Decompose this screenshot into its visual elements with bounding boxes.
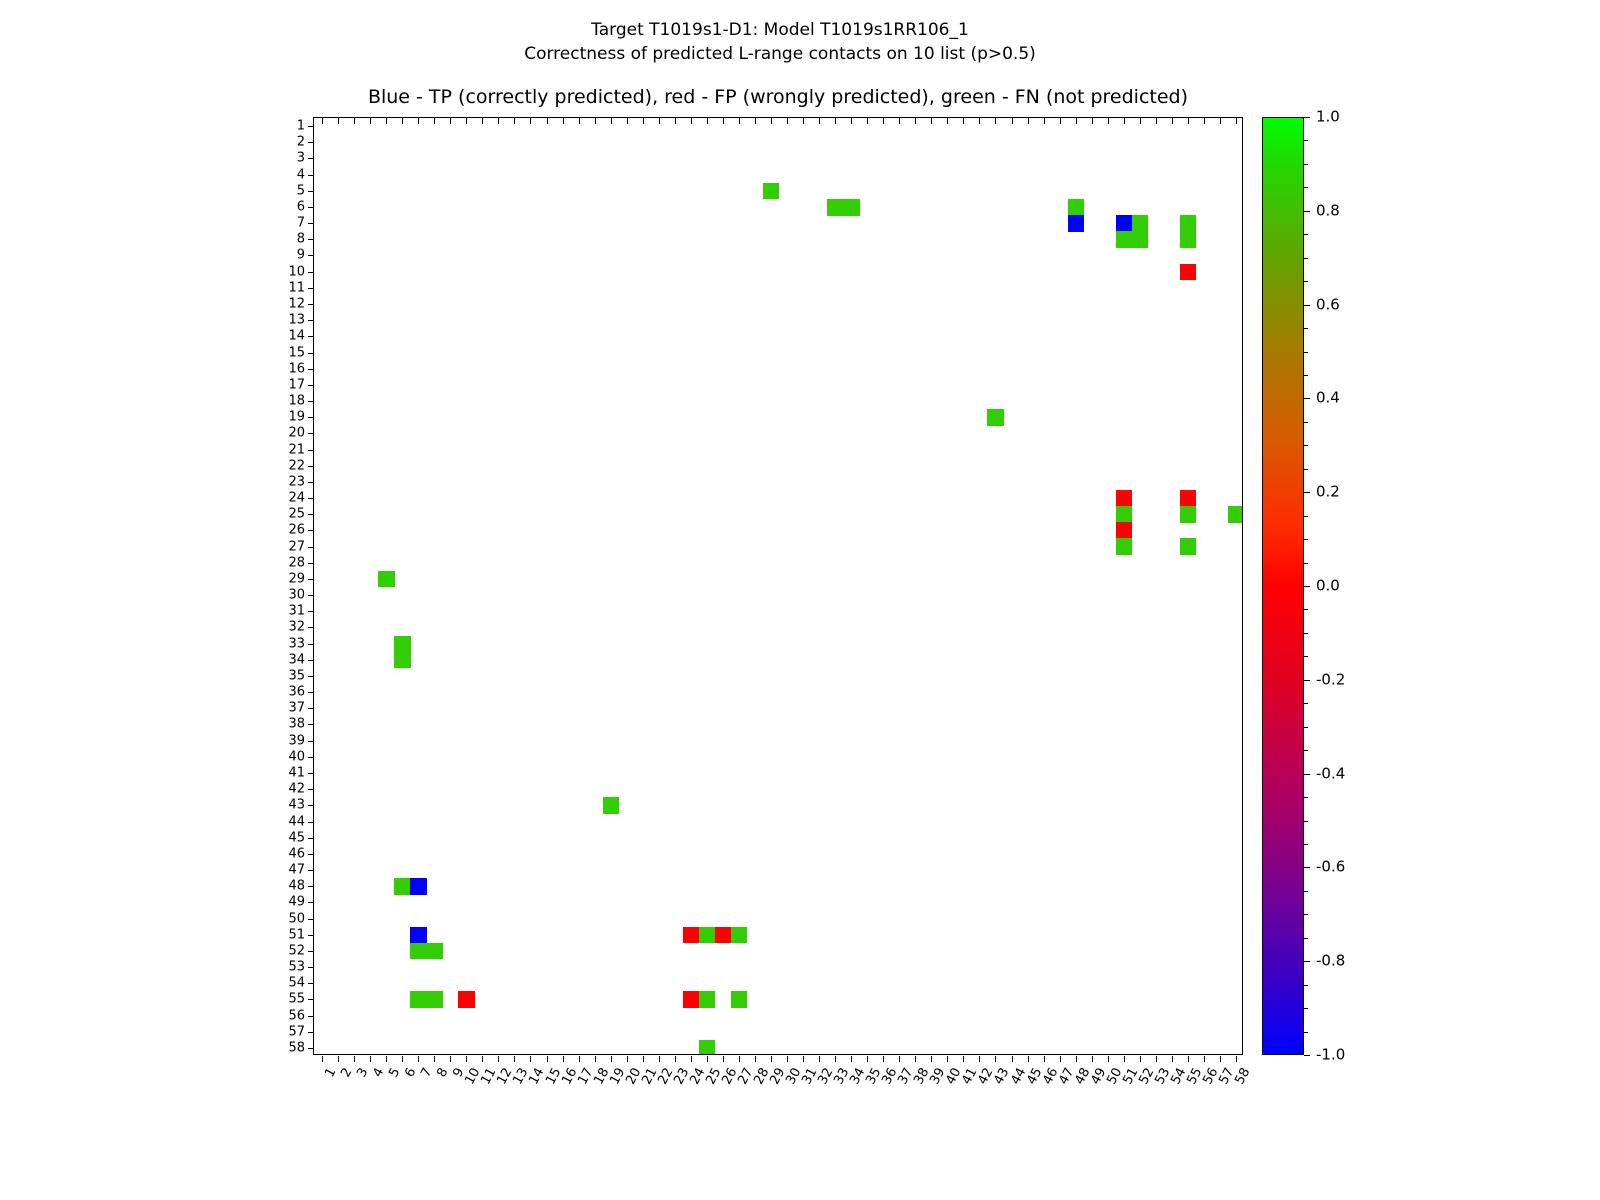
- x-tick-label: 58: [1233, 1066, 1252, 1087]
- y-tick-mark: [308, 1048, 314, 1049]
- y-tick-mark: [308, 207, 314, 208]
- y-tick-label: 53: [288, 961, 305, 974]
- x-tick-mark: [803, 1056, 804, 1062]
- x-tick-mark-top: [851, 118, 852, 124]
- colorbar-tick-mark: [1304, 1055, 1310, 1056]
- y-tick-label: 32: [288, 621, 305, 634]
- y-tick-label: 29: [288, 572, 305, 585]
- y-tick-label: 36: [288, 686, 305, 699]
- contact-cell: [394, 636, 411, 653]
- colorbar-minor-tick: [1304, 375, 1308, 376]
- y-tick-mark: [308, 692, 314, 693]
- x-tick-mark: [434, 1056, 435, 1062]
- x-tick-mark-top: [1172, 118, 1173, 124]
- y-tick-mark: [308, 870, 314, 871]
- colorbar-minor-tick: [1304, 539, 1308, 540]
- colorbar: 1.00.80.60.40.20.0-0.2-0.4-0.6-0.8-1.0: [1262, 117, 1304, 1055]
- y-tick-mark: [308, 886, 314, 887]
- colorbar-tick-mark: [1304, 867, 1310, 868]
- x-tick-mark-top: [1188, 118, 1189, 124]
- contact-cell: [458, 991, 475, 1008]
- x-tick-mark-top: [611, 118, 612, 124]
- x-tick-mark-top: [707, 118, 708, 124]
- colorbar-tick-mark: [1304, 492, 1310, 493]
- y-tick-label: 2: [297, 136, 305, 149]
- x-tick-mark: [659, 1056, 660, 1062]
- y-tick-label: 33: [288, 637, 305, 650]
- figure-title-line-1: Target T1019s1-D1: Model T1019s1RR106_1: [0, 18, 1560, 42]
- y-tick-mark: [308, 644, 314, 645]
- y-tick-label: 48: [288, 880, 305, 893]
- colorbar-minor-tick: [1304, 633, 1308, 634]
- x-tick-mark: [947, 1056, 948, 1062]
- x-tick-mark-top: [1140, 118, 1141, 124]
- y-tick-label: 12: [288, 297, 305, 310]
- x-tick-mark-top: [771, 118, 772, 124]
- colorbar-minor-tick: [1304, 609, 1308, 610]
- contact-cell: [699, 927, 716, 944]
- x-tick-mark: [915, 1056, 916, 1062]
- contact-cell: [1180, 215, 1197, 232]
- y-tick-mark: [308, 595, 314, 596]
- colorbar-minor-tick: [1304, 563, 1308, 564]
- y-tick-mark: [308, 1016, 314, 1017]
- contact-cell: [426, 943, 443, 960]
- colorbar-minor-tick: [1304, 328, 1308, 329]
- colorbar-minor-tick: [1304, 469, 1308, 470]
- x-tick-mark-top: [899, 118, 900, 124]
- y-tick-label: 49: [288, 896, 305, 909]
- colorbar-minor-tick: [1304, 891, 1308, 892]
- contact-cell: [1116, 231, 1133, 248]
- x-tick-mark: [723, 1056, 724, 1062]
- x-tick-mark-top: [563, 118, 564, 124]
- x-tick-mark: [787, 1056, 788, 1062]
- y-tick-label: 23: [288, 475, 305, 488]
- colorbar-tick-mark: [1304, 586, 1310, 587]
- colorbar-tick-label: -1.0: [1316, 1048, 1345, 1063]
- x-tick-mark: [691, 1056, 692, 1062]
- x-tick-mark: [995, 1056, 996, 1062]
- y-tick-label: 37: [288, 702, 305, 715]
- x-tick-mark-top: [819, 118, 820, 124]
- x-tick-mark-top: [787, 118, 788, 124]
- y-tick-mark: [308, 919, 314, 920]
- contact-cell: [699, 991, 716, 1008]
- y-tick-label: 41: [288, 766, 305, 779]
- colorbar-minor-tick: [1304, 821, 1308, 822]
- colorbar-minor-tick: [1304, 656, 1308, 657]
- colorbar-minor-tick: [1304, 352, 1308, 353]
- x-tick-mark: [819, 1056, 820, 1062]
- y-tick-label: 8: [297, 233, 305, 246]
- x-tick-mark: [547, 1056, 548, 1062]
- y-tick-mark: [308, 433, 314, 434]
- x-tick-mark-top: [402, 118, 403, 124]
- y-tick-label: 3: [297, 152, 305, 165]
- x-tick-mark-top: [482, 118, 483, 124]
- x-tick-mark: [482, 1056, 483, 1062]
- y-tick-label: 11: [288, 281, 305, 294]
- x-tick-mark-top: [915, 118, 916, 124]
- colorbar-minor-tick: [1304, 1008, 1308, 1009]
- contact-cell: [1116, 215, 1133, 232]
- colorbar-minor-tick: [1304, 445, 1308, 446]
- x-tick-mark-top: [803, 118, 804, 124]
- x-tick-mark-top: [931, 118, 932, 124]
- y-tick-mark: [308, 336, 314, 337]
- y-tick-mark: [308, 660, 314, 661]
- x-tick-mark-top: [1156, 118, 1157, 124]
- colorbar-minor-tick: [1304, 938, 1308, 939]
- x-tick-mark-top: [450, 118, 451, 124]
- x-tick-label: 8: [435, 1066, 450, 1079]
- contact-cell: [410, 991, 427, 1008]
- y-tick-mark: [308, 353, 314, 354]
- y-tick-mark: [308, 789, 314, 790]
- y-tick-mark: [308, 563, 314, 564]
- x-tick-mark: [931, 1056, 932, 1062]
- contact-cell: [410, 878, 427, 895]
- y-tick-mark: [308, 676, 314, 677]
- colorbar-gradient: [1262, 117, 1304, 1055]
- x-tick-mark: [418, 1056, 419, 1062]
- contact-cell: [410, 943, 427, 960]
- x-tick-mark: [370, 1056, 371, 1062]
- contact-cell: [827, 199, 844, 216]
- y-tick-label: 22: [288, 459, 305, 472]
- y-tick-mark: [308, 369, 314, 370]
- y-tick-mark: [308, 514, 314, 515]
- x-tick-label: 6: [403, 1066, 418, 1079]
- x-tick-mark-top: [691, 118, 692, 124]
- y-tick-label: 34: [288, 653, 305, 666]
- y-tick-label: 55: [288, 993, 305, 1006]
- x-tick-mark: [530, 1056, 531, 1062]
- x-tick-mark-top: [530, 118, 531, 124]
- y-tick-label: 30: [288, 589, 305, 602]
- y-tick-mark: [308, 272, 314, 273]
- contact-map-cells: [314, 118, 1242, 1054]
- x-tick-mark-top: [386, 118, 387, 124]
- x-tick-mark: [563, 1056, 564, 1062]
- x-tick-mark: [1156, 1056, 1157, 1062]
- x-tick-mark: [450, 1056, 451, 1062]
- y-tick-label: 18: [288, 395, 305, 408]
- x-tick-mark-top: [739, 118, 740, 124]
- x-tick-mark-top: [947, 118, 948, 124]
- y-tick-label: 15: [288, 346, 305, 359]
- x-tick-label: 5: [387, 1066, 402, 1079]
- x-tick-mark-top: [1124, 118, 1125, 124]
- y-tick-label: 40: [288, 750, 305, 763]
- x-tick-mark-top: [1012, 118, 1013, 124]
- contact-cell: [763, 183, 780, 200]
- x-tick-mark: [835, 1056, 836, 1062]
- y-tick-label: 16: [288, 362, 305, 375]
- x-tick-mark-top: [498, 118, 499, 124]
- colorbar-minor-tick: [1304, 727, 1308, 728]
- y-tick-label: 10: [288, 265, 305, 278]
- x-tick-mark-top: [1092, 118, 1093, 124]
- contact-cell: [1132, 231, 1149, 248]
- figure-titles: Target T1019s1-D1: Model T1019s1RR106_1 …: [0, 18, 1560, 66]
- contact-cell: [1180, 538, 1197, 555]
- y-tick-label: 44: [288, 815, 305, 828]
- y-tick-label: 35: [288, 669, 305, 682]
- contact-cell: [683, 927, 700, 944]
- y-tick-label: 6: [297, 200, 305, 213]
- y-tick-label: 27: [288, 540, 305, 553]
- colorbar-tick-label: 0.2: [1316, 485, 1340, 500]
- y-tick-mark: [308, 288, 314, 289]
- y-tick-label: 25: [288, 508, 305, 521]
- colorbar-minor-tick: [1304, 422, 1308, 423]
- y-tick-mark: [308, 708, 314, 709]
- y-tick-label: 43: [288, 799, 305, 812]
- y-tick-label: 38: [288, 718, 305, 731]
- x-tick-mark-top: [1108, 118, 1109, 124]
- x-tick-label: 4: [371, 1066, 386, 1079]
- x-tick-mark-top: [755, 118, 756, 124]
- x-tick-mark: [1124, 1056, 1125, 1062]
- y-tick-mark: [308, 547, 314, 548]
- y-tick-mark: [308, 239, 314, 240]
- y-tick-label: 56: [288, 1009, 305, 1022]
- y-tick-label: 14: [288, 330, 305, 343]
- x-tick-mark: [1012, 1056, 1013, 1062]
- x-tick-mark: [514, 1056, 515, 1062]
- y-tick-mark: [308, 724, 314, 725]
- x-tick-mark-top: [659, 118, 660, 124]
- x-tick-mark-top: [370, 118, 371, 124]
- contact-cell: [1180, 231, 1197, 248]
- y-tick-mark: [308, 530, 314, 531]
- x-tick-mark-top: [1236, 118, 1237, 124]
- x-tick-mark-top: [466, 118, 467, 124]
- colorbar-tick-mark: [1304, 961, 1310, 962]
- contact-cell: [1228, 506, 1242, 523]
- y-tick-label: 7: [297, 217, 305, 230]
- contact-cell: [378, 571, 395, 588]
- y-tick-label: 58: [288, 1041, 305, 1054]
- x-tick-mark-top: [883, 118, 884, 124]
- x-tick-label: 7: [419, 1066, 434, 1079]
- y-tick-label: 21: [288, 443, 305, 456]
- x-tick-mark: [979, 1056, 980, 1062]
- colorbar-tick-label: 0.6: [1316, 297, 1340, 312]
- y-tick-mark: [308, 498, 314, 499]
- contact-cell: [1180, 490, 1197, 507]
- y-tick-label: 54: [288, 977, 305, 990]
- x-tick-mark-top: [322, 118, 323, 124]
- x-tick-mark: [851, 1056, 852, 1062]
- y-tick-mark: [308, 983, 314, 984]
- x-tick-mark-top: [979, 118, 980, 124]
- y-tick-mark: [308, 126, 314, 127]
- x-tick-mark: [354, 1056, 355, 1062]
- x-tick-mark-top: [627, 118, 628, 124]
- contact-cell: [1180, 506, 1197, 523]
- colorbar-tick-mark: [1304, 211, 1310, 212]
- y-tick-label: 20: [288, 427, 305, 440]
- y-tick-mark: [308, 951, 314, 952]
- x-tick-mark-top: [418, 118, 419, 124]
- contact-map-plot-area: 1234567891011121314151617181920212223242…: [313, 117, 1243, 1055]
- x-tick-mark: [755, 1056, 756, 1062]
- contact-cell: [1068, 215, 1085, 232]
- colorbar-minor-tick: [1304, 187, 1308, 188]
- x-tick-mark-top: [1220, 118, 1221, 124]
- colorbar-tick-label: -0.6: [1316, 860, 1345, 875]
- x-tick-mark: [675, 1056, 676, 1062]
- x-tick-label: 1: [323, 1066, 338, 1079]
- x-tick-mark: [402, 1056, 403, 1062]
- y-tick-mark: [308, 902, 314, 903]
- y-tick-label: 45: [288, 831, 305, 844]
- x-tick-mark: [883, 1056, 884, 1062]
- y-tick-mark: [308, 320, 314, 321]
- contact-cell: [699, 1040, 716, 1054]
- y-tick-label: 47: [288, 864, 305, 877]
- contact-cell: [1116, 522, 1133, 539]
- y-tick-mark: [308, 175, 314, 176]
- colorbar-minor-tick: [1304, 164, 1308, 165]
- colorbar-tick-mark: [1304, 305, 1310, 306]
- colorbar-tick-label: -0.8: [1316, 954, 1345, 969]
- y-tick-label: 52: [288, 944, 305, 957]
- colorbar-minor-tick: [1304, 914, 1308, 915]
- y-tick-label: 13: [288, 314, 305, 327]
- x-tick-mark: [963, 1056, 964, 1062]
- y-tick-mark: [308, 482, 314, 483]
- y-tick-mark: [308, 401, 314, 402]
- x-tick-mark-top: [643, 118, 644, 124]
- y-tick-mark: [308, 854, 314, 855]
- y-tick-mark: [308, 822, 314, 823]
- contact-cell: [731, 991, 748, 1008]
- y-tick-label: 50: [288, 912, 305, 925]
- x-tick-mark: [1092, 1056, 1093, 1062]
- x-tick-mark: [1140, 1056, 1141, 1062]
- x-tick-mark-top: [675, 118, 676, 124]
- colorbar-minor-tick: [1304, 281, 1308, 282]
- y-tick-mark: [308, 611, 314, 612]
- y-tick-mark: [308, 773, 314, 774]
- contact-cell: [603, 797, 620, 814]
- contact-cell: [731, 927, 748, 944]
- y-tick-mark: [308, 999, 314, 1000]
- y-tick-mark: [308, 741, 314, 742]
- colorbar-minor-tick: [1304, 703, 1308, 704]
- colorbar-tick-label: 1.0: [1316, 110, 1340, 125]
- x-tick-mark: [643, 1056, 644, 1062]
- y-tick-mark: [308, 450, 314, 451]
- y-tick-label: 1: [297, 120, 305, 133]
- y-tick-mark: [308, 417, 314, 418]
- contact-cell: [987, 409, 1004, 426]
- y-tick-label: 19: [288, 411, 305, 424]
- x-tick-mark: [498, 1056, 499, 1062]
- y-tick-label: 46: [288, 847, 305, 860]
- y-tick-label: 51: [288, 928, 305, 941]
- y-tick-label: 31: [288, 605, 305, 618]
- y-tick-label: 39: [288, 734, 305, 747]
- colorbar-minor-tick: [1304, 258, 1308, 259]
- y-tick-label: 9: [297, 249, 305, 262]
- colorbar-minor-tick: [1304, 234, 1308, 235]
- y-tick-mark: [308, 191, 314, 192]
- x-tick-mark: [1076, 1056, 1077, 1062]
- x-tick-mark-top: [1204, 118, 1205, 124]
- x-tick-mark: [611, 1056, 612, 1062]
- x-tick-mark-top: [867, 118, 868, 124]
- y-tick-mark: [308, 627, 314, 628]
- y-tick-label: 24: [288, 492, 305, 505]
- y-tick-mark: [308, 223, 314, 224]
- x-tick-mark: [1172, 1056, 1173, 1062]
- y-tick-mark: [308, 967, 314, 968]
- x-tick-mark: [1108, 1056, 1109, 1062]
- x-tick-mark: [579, 1056, 580, 1062]
- colorbar-minor-tick: [1304, 774, 1308, 775]
- x-tick-mark-top: [1044, 118, 1045, 124]
- x-tick-mark: [1060, 1056, 1061, 1062]
- x-tick-mark-top: [547, 118, 548, 124]
- x-tick-mark: [867, 1056, 868, 1062]
- x-tick-mark-top: [963, 118, 964, 124]
- contact-cell: [410, 927, 427, 944]
- x-tick-mark-top: [1076, 118, 1077, 124]
- x-tick-mark-top: [1028, 118, 1029, 124]
- y-tick-mark: [308, 579, 314, 580]
- contact-cell: [394, 878, 411, 895]
- y-tick-mark: [308, 466, 314, 467]
- x-tick-mark: [466, 1056, 467, 1062]
- x-tick-mark-top: [338, 118, 339, 124]
- x-tick-mark: [707, 1056, 708, 1062]
- x-tick-label: 2: [339, 1066, 354, 1079]
- x-tick-mark: [1044, 1056, 1045, 1062]
- y-tick-mark: [308, 255, 314, 256]
- y-tick-mark: [308, 385, 314, 386]
- x-tick-mark: [1188, 1056, 1189, 1062]
- colorbar-tick-label: -0.2: [1316, 672, 1345, 687]
- x-tick-mark-top: [835, 118, 836, 124]
- x-tick-mark: [771, 1056, 772, 1062]
- x-tick-mark: [595, 1056, 596, 1062]
- contact-cell: [1132, 215, 1149, 232]
- colorbar-minor-tick: [1304, 680, 1308, 681]
- contact-cell: [683, 991, 700, 1008]
- x-tick-mark: [1204, 1056, 1205, 1062]
- colorbar-tick-mark: [1304, 117, 1310, 118]
- colorbar-tick-label: 0.8: [1316, 203, 1340, 218]
- x-tick-mark: [627, 1056, 628, 1062]
- colorbar-minor-tick: [1304, 516, 1308, 517]
- colorbar-minor-tick: [1304, 797, 1308, 798]
- y-tick-label: 26: [288, 524, 305, 537]
- x-tick-mark: [386, 1056, 387, 1062]
- contact-cell: [1116, 490, 1133, 507]
- colorbar-minor-tick: [1304, 985, 1308, 986]
- y-tick-label: 42: [288, 783, 305, 796]
- contact-cell: [715, 927, 732, 944]
- x-tick-mark-top: [579, 118, 580, 124]
- x-tick-mark: [899, 1056, 900, 1062]
- y-tick-mark: [308, 838, 314, 839]
- colorbar-minor-tick: [1304, 844, 1308, 845]
